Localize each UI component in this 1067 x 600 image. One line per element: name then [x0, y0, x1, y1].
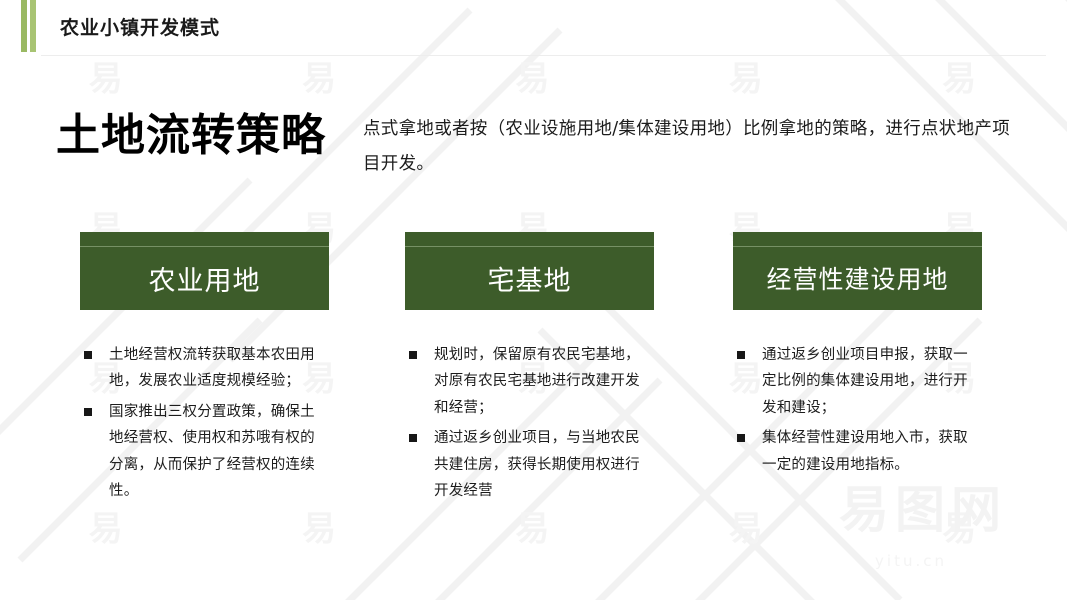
bullet-text: 集体经营性建设用地入市，获取一定的建设用地指标。: [762, 425, 982, 478]
slide-header: 农业小镇开发模式: [0, 0, 1067, 56]
bullet-text: 土地经营权流转获取基本农田用地，发展农业适度规模经验；: [109, 342, 329, 395]
header-accent-bars: [21, 0, 36, 52]
intro-description: 点式拿地或者按（农业设施用地/集体建设用地）比例拿地的策略，进行点状地产项目开发…: [363, 112, 1023, 182]
list-item: 土地经营权流转获取基本农田用地，发展农业适度规模经验；: [84, 342, 329, 395]
bullet-text: 规划时，保留原有农民宅基地，对原有农民宅基地进行改建开发和经营；: [434, 342, 654, 421]
column-header-box[interactable]: 农业用地: [80, 232, 329, 310]
column-heading-label: 农业用地: [149, 259, 261, 298]
list-item: 通过返乡创业项目，与当地农民共建住房，获得长期使用权进行开发经营: [409, 425, 654, 504]
slide-canvas: 易 易 易 易 易 易 易 易 易 易 易 易 易 易 易 易 易 易 易 易 …: [0, 0, 1067, 600]
header-accent-bar-2: [30, 0, 36, 52]
list-item: 国家推出三权分置政策，确保土地经营权、使用权和苏哦有权的分离，从而保护了经营权的…: [84, 399, 329, 505]
header-title: 农业小镇开发模式: [60, 13, 220, 40]
bullet-text: 通过返乡创业项目，与当地农民共建住房，获得长期使用权进行开发经营: [434, 425, 654, 504]
column-bullet-list: 规划时，保留原有农民宅基地，对原有农民宅基地进行改建开发和经营； 通过返乡创业项…: [405, 342, 654, 504]
bullet-square-icon: [409, 351, 417, 359]
bullet-square-icon: [84, 408, 92, 416]
column-heading-label: 经营性建设用地: [766, 260, 948, 296]
bullet-square-icon: [409, 434, 417, 442]
column-bullet-list: 土地经营权流转获取基本农田用地，发展农业适度规模经验； 国家推出三权分置政策，确…: [80, 342, 329, 504]
column-commercial-construction-land: 经营性建设用地 通过返乡创业项目申报，获取一定比例的集体建设用地，进行开发和建设…: [733, 232, 982, 482]
bullet-square-icon: [84, 351, 92, 359]
page-title: 土地流转策略: [56, 114, 326, 158]
list-item: 集体经营性建设用地入市，获取一定的建设用地指标。: [737, 425, 982, 478]
bullet-text: 国家推出三权分置政策，确保土地经营权、使用权和苏哦有权的分离，从而保护了经营权的…: [109, 399, 329, 505]
list-item: 规划时，保留原有农民宅基地，对原有农民宅基地进行改建开发和经营；: [409, 342, 654, 421]
header-accent-bar-1: [21, 0, 27, 52]
column-header-box[interactable]: 经营性建设用地: [733, 232, 982, 310]
column-bullet-list: 通过返乡创业项目申报，获取一定比例的集体建设用地，进行开发和建设； 集体经营性建…: [733, 342, 982, 478]
column-header-box[interactable]: 宅基地: [405, 232, 654, 310]
bullet-text: 通过返乡创业项目申报，获取一定比例的集体建设用地，进行开发和建设；: [762, 342, 982, 421]
column-heading-label: 宅基地: [488, 259, 572, 298]
intro-section: 土地流转策略 点式拿地或者按（农业设施用地/集体建设用地）比例拿地的策略，进行点…: [0, 106, 1067, 186]
list-item: 通过返乡创业项目申报，获取一定比例的集体建设用地，进行开发和建设；: [737, 342, 982, 421]
column-homestead-land: 宅基地 规划时，保留原有农民宅基地，对原有农民宅基地进行改建开发和经营； 通过返…: [405, 232, 654, 508]
bullet-square-icon: [737, 434, 745, 442]
watermark-site: yitu.cn: [875, 552, 947, 570]
column-agricultural-land: 农业用地 土地经营权流转获取基本农田用地，发展农业适度规模经验； 国家推出三权分…: [80, 232, 329, 508]
bullet-square-icon: [737, 351, 745, 359]
header-divider: [41, 55, 1046, 56]
